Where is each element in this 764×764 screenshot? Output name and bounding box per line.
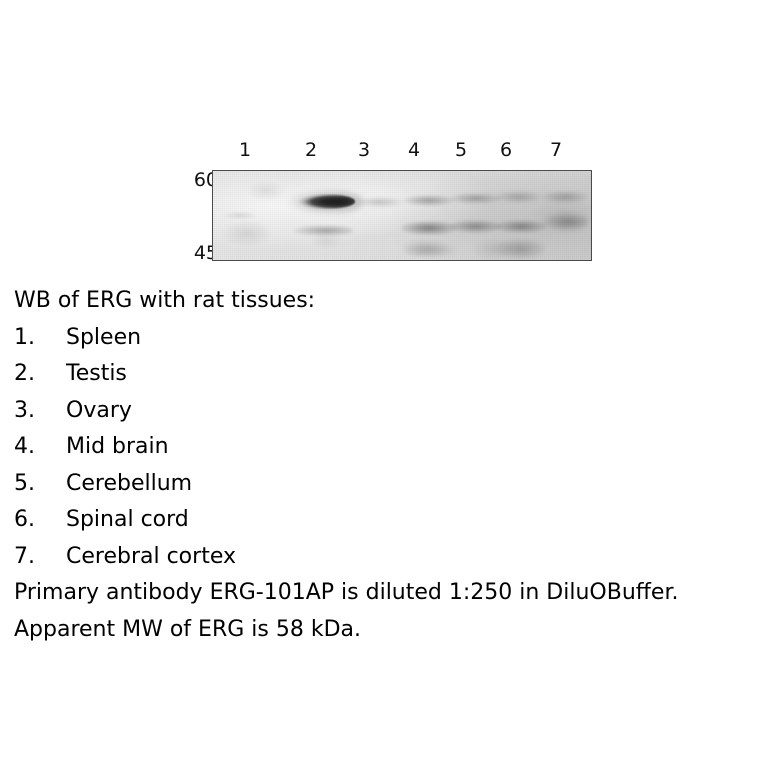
list-item-number: 5. [14,466,35,503]
lane-number-7: 7 [541,138,571,162]
list-item-label: Spinal cord [66,502,189,539]
list-item-label: Mid brain [66,429,169,466]
antibody-dilution-note: Primary antibody ERG-101AP is diluted 1:… [14,575,754,612]
list-item-label: Cerebellum [66,466,192,503]
western-blot-figure: 1 2 3 4 5 6 7 60 45 [0,0,764,275]
figure-root: 1 2 3 4 5 6 7 60 45 [0,0,764,764]
lane-number-2: 2 [296,138,326,162]
list-item-number: 2. [14,356,35,393]
list-item-label: Testis [66,356,127,393]
list-item: 5. Cerebellum [14,466,754,503]
membrane-background [213,171,591,260]
list-item-label: Cerebral cortex [66,539,236,576]
lane-number-4: 4 [399,138,429,162]
list-item-number: 6. [14,502,35,539]
list-item: 3. Ovary [14,393,754,430]
list-item: 2. Testis [14,356,754,393]
caption-title: WB of ERG with rat tissues: [14,283,754,320]
list-item: 1. Spleen [14,320,754,357]
lane-number-row: 1 2 3 4 5 6 7 [212,138,592,162]
list-item: 6. Spinal cord [14,502,754,539]
list-item: 4. Mid brain [14,429,754,466]
tissue-list: 1. Spleen 2. Testis 3. Ovary 4. Mid brai… [14,320,754,576]
list-item: 7. Cerebral cortex [14,539,754,576]
lane-number-6: 6 [491,138,521,162]
list-item-number: 7. [14,539,35,576]
list-item-label: Spleen [66,320,141,357]
lane-number-5: 5 [446,138,476,162]
lane-number-1: 1 [230,138,260,162]
lane-number-3: 3 [349,138,379,162]
list-item-number: 3. [14,393,35,430]
blot-membrane-panel [212,170,592,261]
list-item-number: 4. [14,429,35,466]
list-item-label: Ovary [66,393,132,430]
list-item-number: 1. [14,320,35,357]
apparent-mw-note: Apparent MW of ERG is 58 kDa. [14,612,754,649]
figure-caption: WB of ERG with rat tissues: 1. Spleen 2.… [14,283,754,648]
